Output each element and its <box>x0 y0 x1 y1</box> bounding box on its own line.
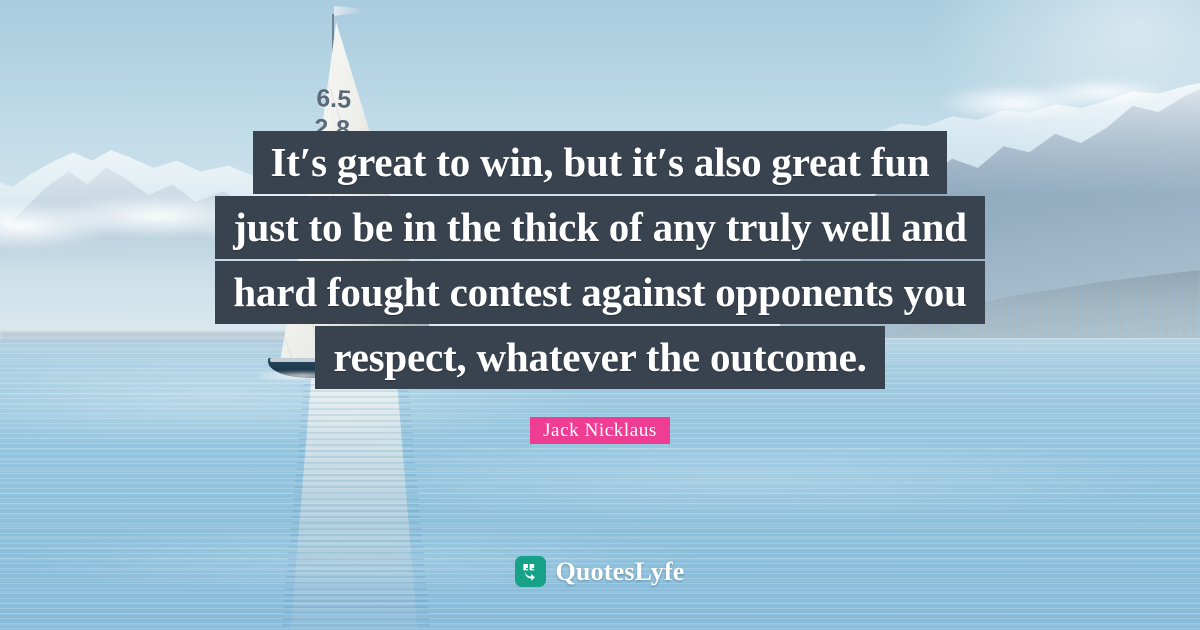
brand-name: QuotesLyfe <box>555 556 684 587</box>
quote-line: respect, whatever the outcome. <box>315 326 884 389</box>
author-name-badge[interactable]: Jack Nicklaus <box>530 417 670 444</box>
quote-card: 6.5 2.8 It′s great to win, but it′s also… <box>0 0 1200 630</box>
quote-text-block: It′s great to win, but it′s also great f… <box>0 131 1200 389</box>
sail-number-top: 6.5 <box>308 83 360 116</box>
quote-line: hard fought contest against opponents yo… <box>215 261 984 324</box>
masthead-flag <box>334 6 360 16</box>
author-attribution: Jack Nicklaus <box>0 417 1200 444</box>
quote-mark-icon <box>515 556 546 587</box>
brand-watermark[interactable]: QuotesLyfe <box>0 556 1200 587</box>
quote-line: just to be in the thick of any truly wel… <box>215 196 985 259</box>
quote-line: It′s great to win, but it′s also great f… <box>253 131 948 194</box>
